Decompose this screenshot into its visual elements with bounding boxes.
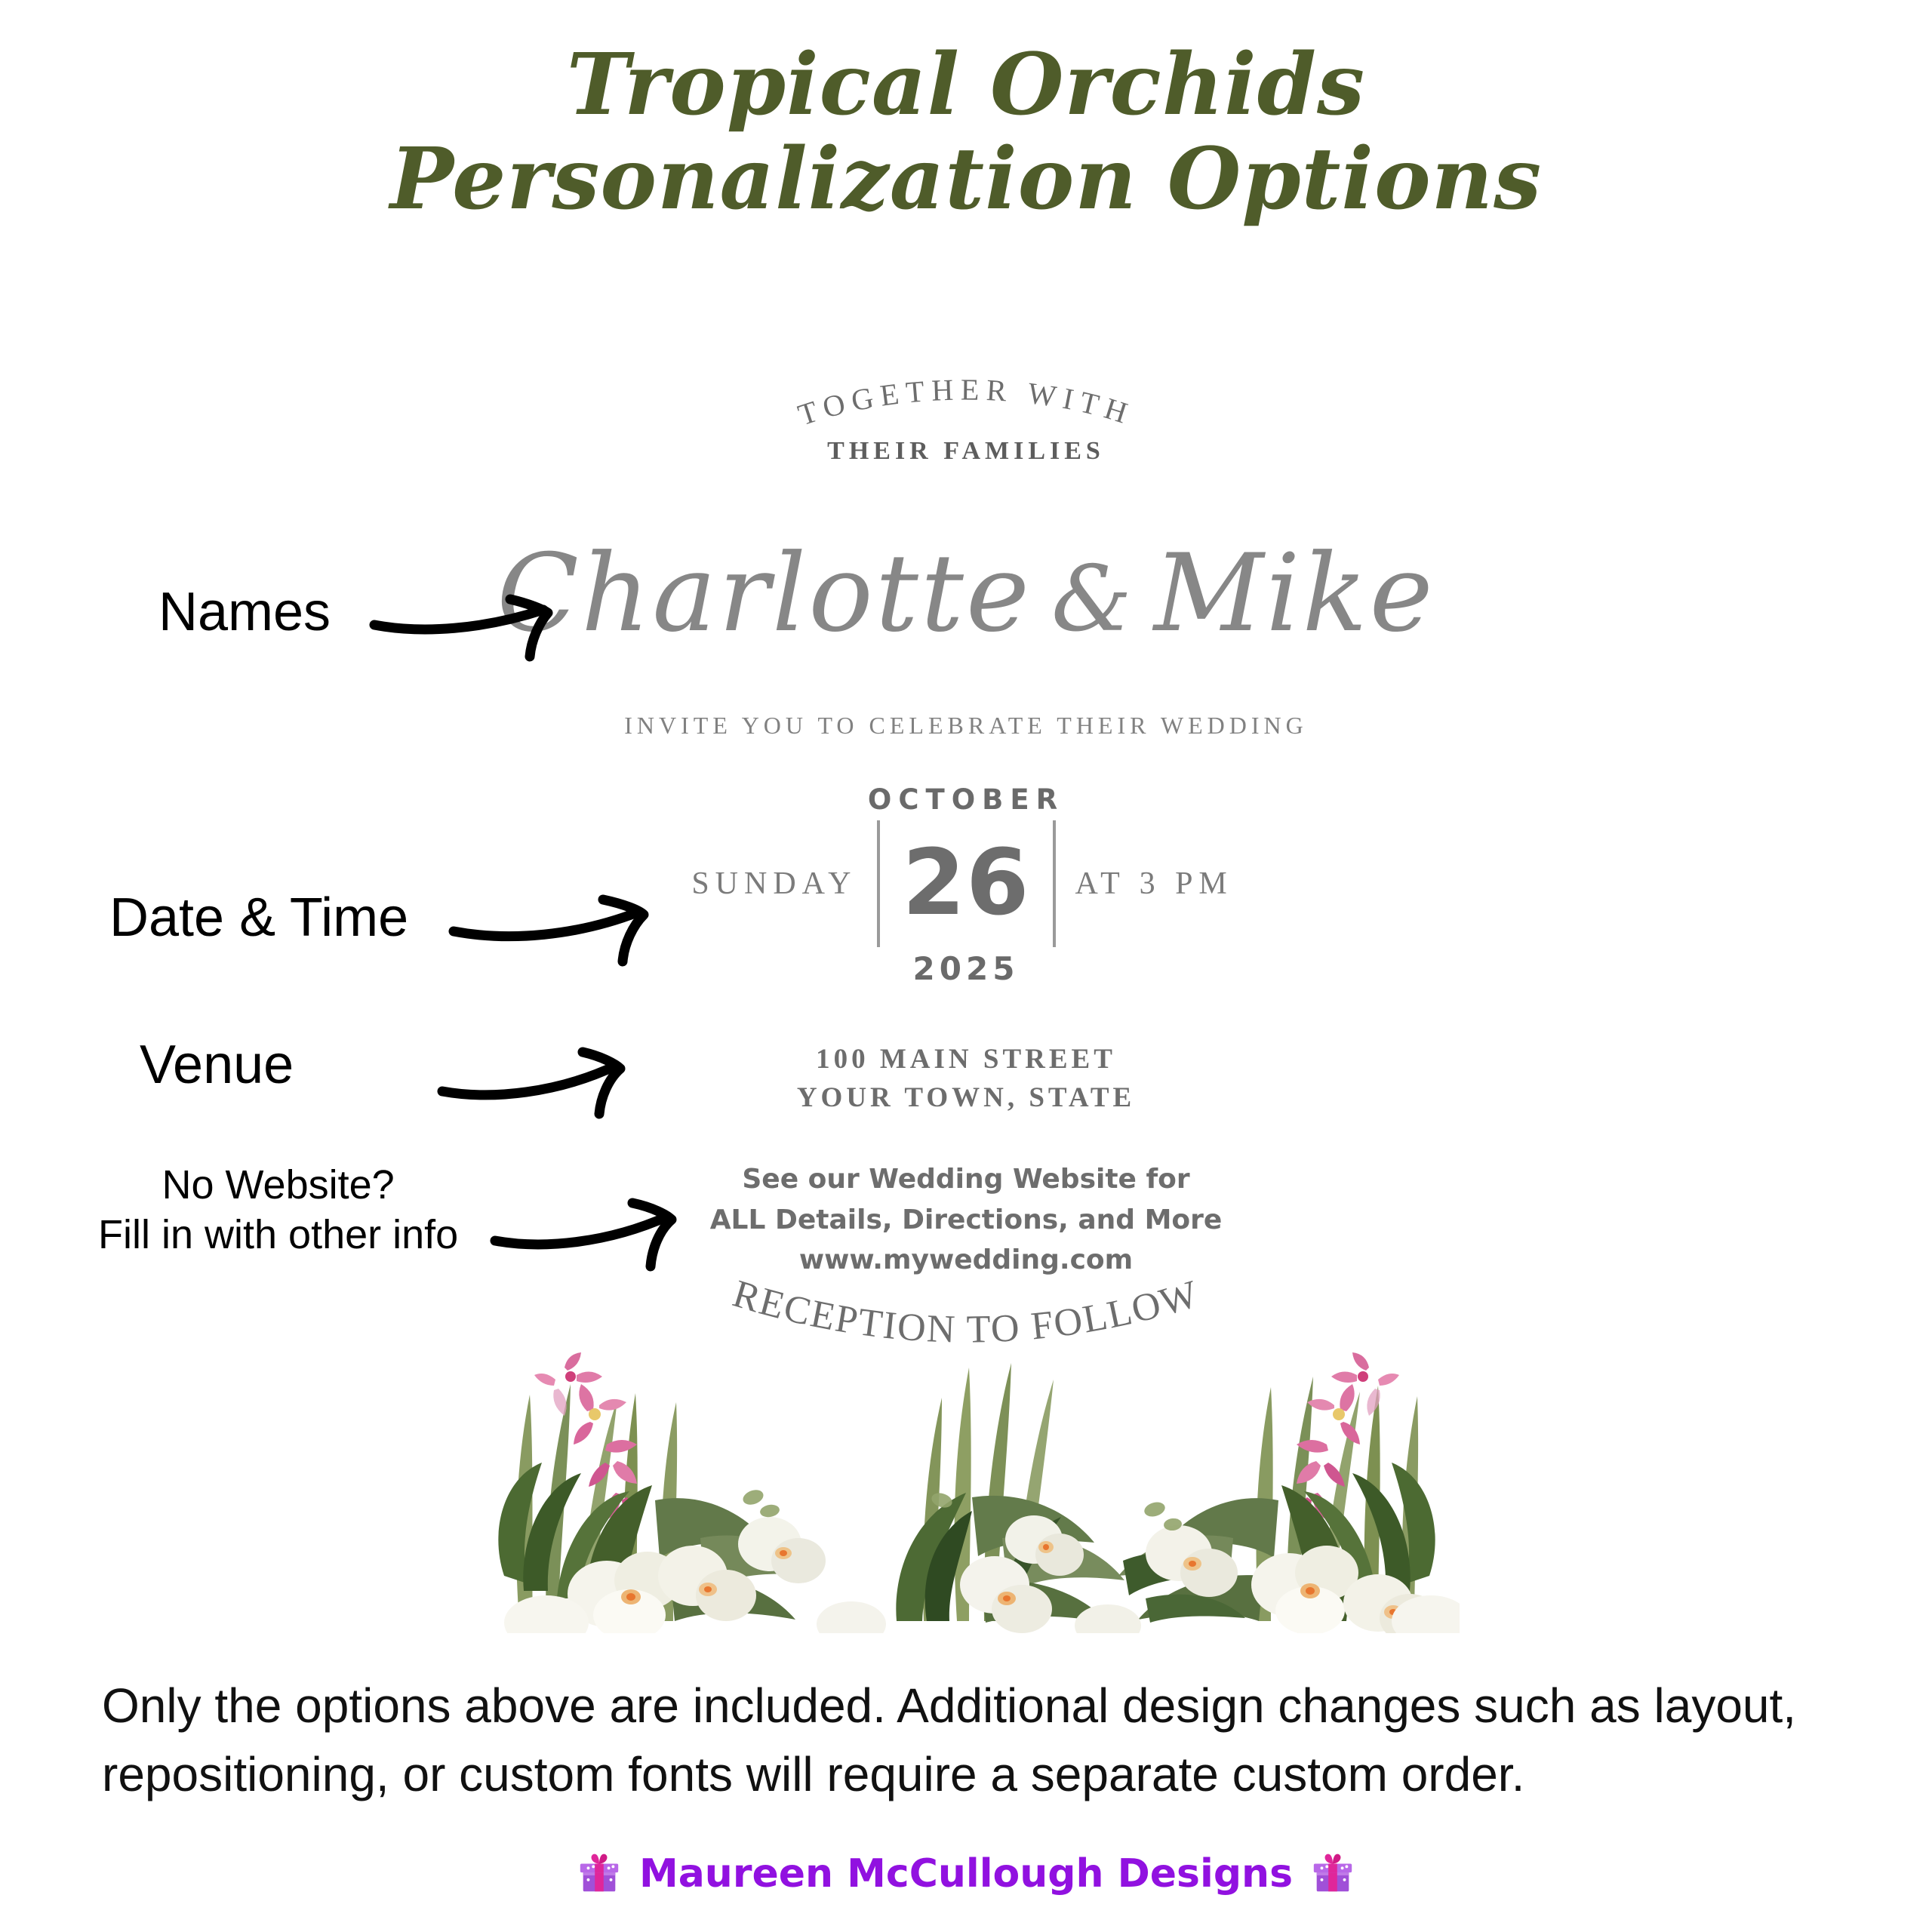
annotation-label-date-time: Date & Time xyxy=(109,887,408,949)
arrow-to-website-icon xyxy=(491,1197,687,1280)
annotation-label-venue: Venue xyxy=(140,1034,294,1096)
page-title-line-2: Personalization Options xyxy=(0,132,1932,226)
reception-label: RECEPTION TO FOLLOW xyxy=(728,1272,1204,1352)
date-time: AT 3 PM xyxy=(1056,866,1305,902)
page-root: Tropical Orchids Personalization Options… xyxy=(0,0,1932,1932)
name-first: Charlotte xyxy=(497,531,1032,656)
invite-line: INVITE YOU TO CELEBRATE THEIR WEDDING xyxy=(475,712,1457,740)
couple-names: Charlotte&Mike xyxy=(475,535,1457,653)
together-with-label: TOGETHER WITH xyxy=(794,372,1138,432)
name-second: Mike xyxy=(1154,531,1435,656)
annotation-label-names: Names xyxy=(158,581,331,643)
floral-border-image xyxy=(474,1349,1460,1633)
svg-text:RECEPTION TO FOLLOW: RECEPTION TO FOLLOW xyxy=(728,1272,1204,1352)
date-weekday: SUNDAY xyxy=(628,866,877,902)
gift-box-icon xyxy=(576,1850,623,1897)
date-day-number: 26 xyxy=(903,838,1030,929)
arrow-to-venue-icon xyxy=(438,1040,634,1123)
annotation-label-website: No Website? Fill in with other info xyxy=(98,1161,458,1260)
page-title-line-1: Tropical Orchids xyxy=(0,38,1932,132)
date-number-frame: 26 xyxy=(877,820,1056,947)
gift-box-icon xyxy=(1309,1850,1356,1897)
page-title: Tropical Orchids Personalization Options xyxy=(0,38,1932,227)
brand-name: Maureen McCullough Designs xyxy=(639,1851,1293,1897)
ampersand: & xyxy=(1032,547,1154,652)
arrow-to-names-icon xyxy=(370,587,566,670)
svg-text:TOGETHER WITH: TOGETHER WITH xyxy=(794,372,1138,432)
annotation-website-line-1: No Website? xyxy=(98,1161,458,1211)
disclaimer-text: Only the options above are included. Add… xyxy=(102,1672,1838,1809)
arrow-to-date-time-icon xyxy=(449,892,660,975)
footer-brand: Maureen McCullough Designs xyxy=(0,1850,1932,1897)
date-month: OCTOBER xyxy=(475,783,1457,816)
website-line-1: See our Wedding Website for xyxy=(475,1159,1457,1199)
together-with-arch: TOGETHER WITH xyxy=(475,355,1457,441)
annotation-website-line-2: Fill in with other info xyxy=(98,1211,458,1260)
